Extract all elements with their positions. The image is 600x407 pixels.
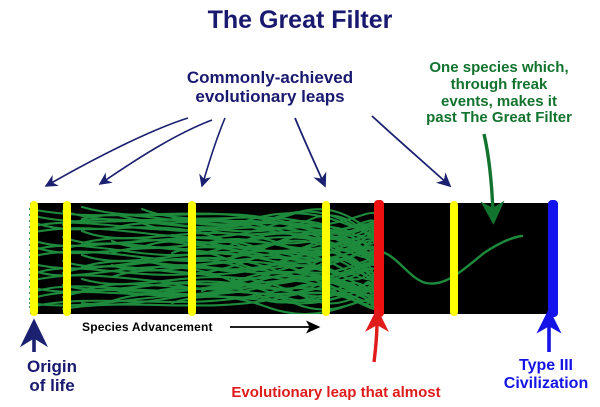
arrow-survivor <box>484 134 493 212</box>
annotation-commonly-achieved-leaps: Commonly-achieved evolutionary leaps <box>150 68 390 106</box>
axis-label-species-advancement: Species Advancement <box>82 320 213 334</box>
arrow-leap-3 <box>202 118 225 186</box>
annotation-one-species-survivor: One species which, through freak events,… <box>398 60 600 127</box>
bar-leap-2 <box>188 201 196 316</box>
bar-origin-of-life <box>30 201 38 316</box>
arrow-great-filter <box>374 321 377 362</box>
evolution-timeline-panel <box>22 203 558 314</box>
bar-leap-1 <box>63 201 71 316</box>
bar-type-iii-civilization <box>548 200 558 317</box>
great-filter-infographic: The Great Filter Commonly-achieved evolu… <box>0 0 600 407</box>
arrow-leap-1 <box>46 118 188 186</box>
bar-great-filter <box>374 200 384 317</box>
lineage-lines <box>22 203 558 314</box>
bar-leap-3 <box>322 201 330 316</box>
annotation-origin-of-life: Origin of life <box>6 357 98 395</box>
bar-leap-post-filter <box>450 201 458 316</box>
arrow-leap-4 <box>295 118 325 186</box>
filter-line-1: Evolutionary leap that almost <box>231 384 440 401</box>
arrow-leap-2 <box>100 120 212 184</box>
annotation-type-iii-civilization: Type III Civilization <box>492 357 600 393</box>
surviving-lineage-line <box>374 236 522 284</box>
page-title: The Great Filter <box>0 6 600 35</box>
annotation-great-filter-red: Evolutionary leap that almost no species… <box>186 368 486 407</box>
